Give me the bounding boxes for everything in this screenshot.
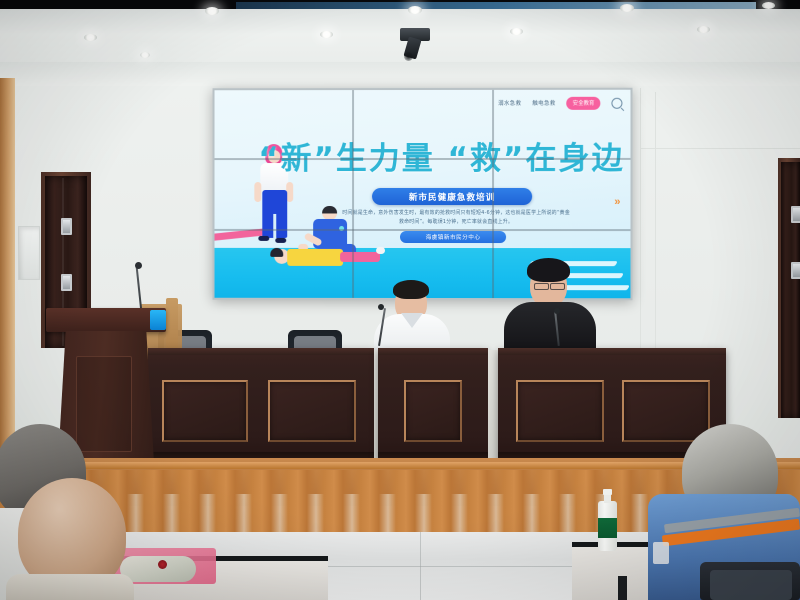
desk-panel [404, 380, 462, 442]
speaker-left [376, 280, 448, 352]
water-bottle[interactable] [598, 489, 617, 551]
bottle-label [598, 518, 617, 538]
downlight [140, 52, 150, 58]
audience-member-bald-body [6, 574, 134, 600]
speaker-right-shirt [504, 302, 596, 354]
wall-seam [640, 148, 800, 149]
downlight [697, 26, 710, 33]
door-handle[interactable] [791, 206, 800, 223]
desk-top-center [378, 348, 488, 355]
door-right[interactable] [781, 162, 800, 418]
downlight [84, 34, 97, 41]
downlight [620, 4, 634, 12]
downlight [510, 28, 523, 35]
podium-top [46, 308, 166, 332]
eyeglasses [550, 283, 565, 290]
desk-panel [622, 380, 710, 442]
speaker-right-hair [527, 258, 570, 282]
desk-top-left [148, 348, 374, 355]
door-handle[interactable] [61, 218, 72, 235]
wall-wood-trim-left [0, 78, 15, 458]
speaker-right [508, 258, 592, 352]
downlight [762, 2, 775, 9]
door-handle[interactable] [791, 262, 800, 279]
microphone-head-left [378, 304, 384, 310]
uniform-shoulder-patch [653, 542, 669, 564]
downlight [408, 6, 422, 14]
microphone-head-right [554, 308, 560, 314]
conference-room-photo: 溺水急救 触电急救 安全教育 [0, 0, 800, 600]
desk-panel [268, 380, 356, 442]
podium-display-light [150, 310, 166, 330]
podium-microphone-head [135, 262, 142, 269]
desk-panel [162, 380, 248, 442]
pouch-emblem [158, 560, 167, 569]
ceiling-light-cove [236, 2, 756, 9]
podium-panel [76, 356, 132, 452]
downlight [320, 31, 333, 38]
audience-table-leg [618, 576, 627, 600]
speaker-left-hair [393, 280, 429, 299]
desk-panel [516, 380, 604, 442]
floor-seam [420, 532, 421, 600]
ceiling-camera-lens [404, 52, 413, 61]
desk-gap [488, 350, 498, 466]
wall-niche [18, 226, 40, 280]
patterned-pouch [120, 556, 196, 582]
bottle-cap [603, 489, 612, 495]
door-handle[interactable] [61, 274, 72, 291]
eyeglasses [534, 283, 549, 290]
stage-edge [0, 462, 800, 469]
audience-chair-mesh [710, 570, 792, 600]
downlight [205, 7, 219, 15]
desk-top-right [498, 348, 726, 355]
